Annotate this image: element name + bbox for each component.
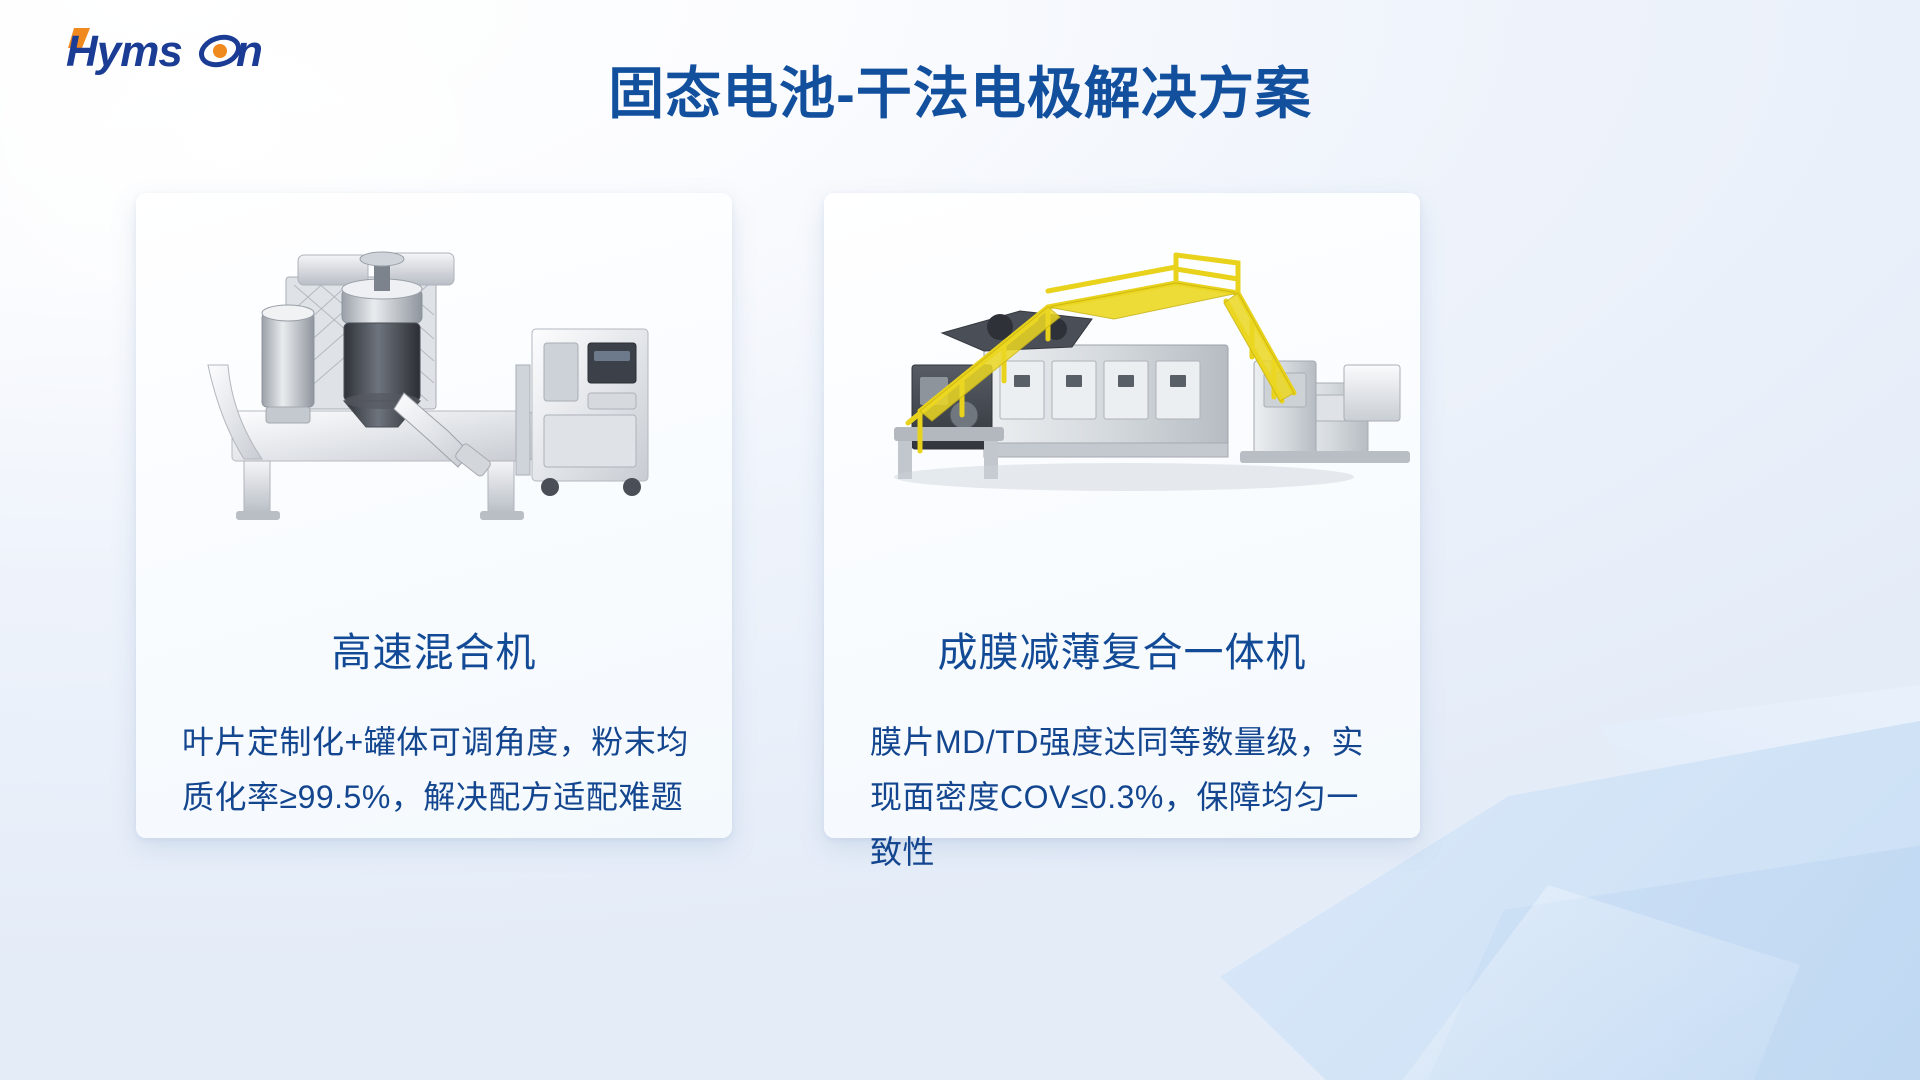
background-facet-3	[1380, 860, 1800, 1080]
solution-card-film-forming-machine[interactable]: 成膜减薄复合一体机 膜片MD/TD强度达同等数量级，实现面密度COV≤0.3%，…	[824, 193, 1420, 838]
background-facet-2	[1410, 820, 1920, 1080]
card-body-text: 膜片MD/TD强度达同等数量级，实现面密度COV≤0.3%，保障均匀一致性	[870, 715, 1380, 880]
background-facet-4	[1600, 680, 1920, 910]
slide-canvas: Hyms n 固态电池-干法电极解决方案	[0, 0, 1920, 1080]
page-title: 固态电池-干法电极解决方案	[0, 66, 1920, 122]
film-forming-line-photo	[824, 215, 1420, 545]
solution-card-high-speed-mixer[interactable]: 高速混合机 叶片定制化+罐体可调角度，粉末均质化率≥99.5%，解决配方适配难题	[136, 193, 732, 838]
card-title: 高速混合机	[136, 633, 732, 673]
high-speed-mixer-photo	[136, 215, 732, 545]
card-title: 成膜减薄复合一体机	[824, 633, 1420, 673]
card-body-text: 叶片定制化+罐体可调角度，粉末均质化率≥99.5%，解决配方适配难题	[182, 715, 692, 825]
